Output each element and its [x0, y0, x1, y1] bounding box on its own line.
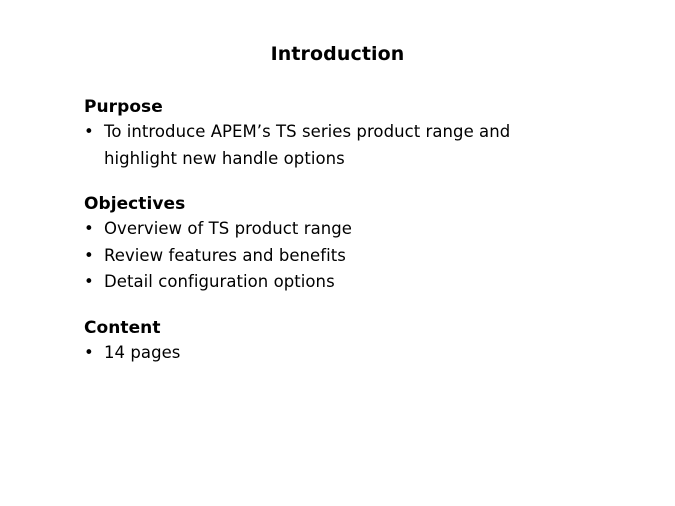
list-item: • 14 pages — [84, 340, 604, 367]
section-purpose: Purpose • To introduce APEM’s TS series … — [84, 96, 604, 172]
section-heading-objectives: Objectives — [84, 193, 604, 215]
bullet-icon: • — [84, 119, 94, 146]
slide-canvas: Introduction Purpose • To introduce APEM… — [0, 0, 675, 506]
list-item: • Overview of TS product range — [84, 216, 604, 243]
list-item: • Review features and benefits — [84, 243, 604, 270]
slide-body: Purpose • To introduce APEM’s TS series … — [84, 96, 604, 366]
list-item-label: Review features and benefits — [104, 246, 346, 265]
list-item-label: Overview of TS product range — [104, 219, 352, 238]
list-item-label: 14 pages — [104, 343, 180, 362]
bullet-icon: • — [84, 243, 94, 270]
list-item-label: Detail configuration options — [104, 272, 335, 291]
bullet-list-objectives: • Overview of TS product range • Review … — [84, 216, 604, 296]
list-item-label: To introduce APEM’s TS series product ra… — [104, 122, 510, 168]
bullet-icon: • — [84, 269, 94, 296]
list-item: • To introduce APEM’s TS series product … — [84, 119, 586, 172]
bullet-icon: • — [84, 216, 94, 243]
section-content: Content • 14 pages — [84, 317, 604, 367]
bullet-list-content: • 14 pages — [84, 340, 604, 367]
list-item: • Detail configuration options — [84, 269, 604, 296]
section-heading-purpose: Purpose — [84, 96, 604, 118]
bullet-icon: • — [84, 340, 94, 367]
section-objectives: Objectives • Overview of TS product rang… — [84, 193, 604, 296]
section-heading-content: Content — [84, 317, 604, 339]
bullet-list-purpose: • To introduce APEM’s TS series product … — [84, 119, 604, 172]
page-title: Introduction — [0, 42, 675, 66]
